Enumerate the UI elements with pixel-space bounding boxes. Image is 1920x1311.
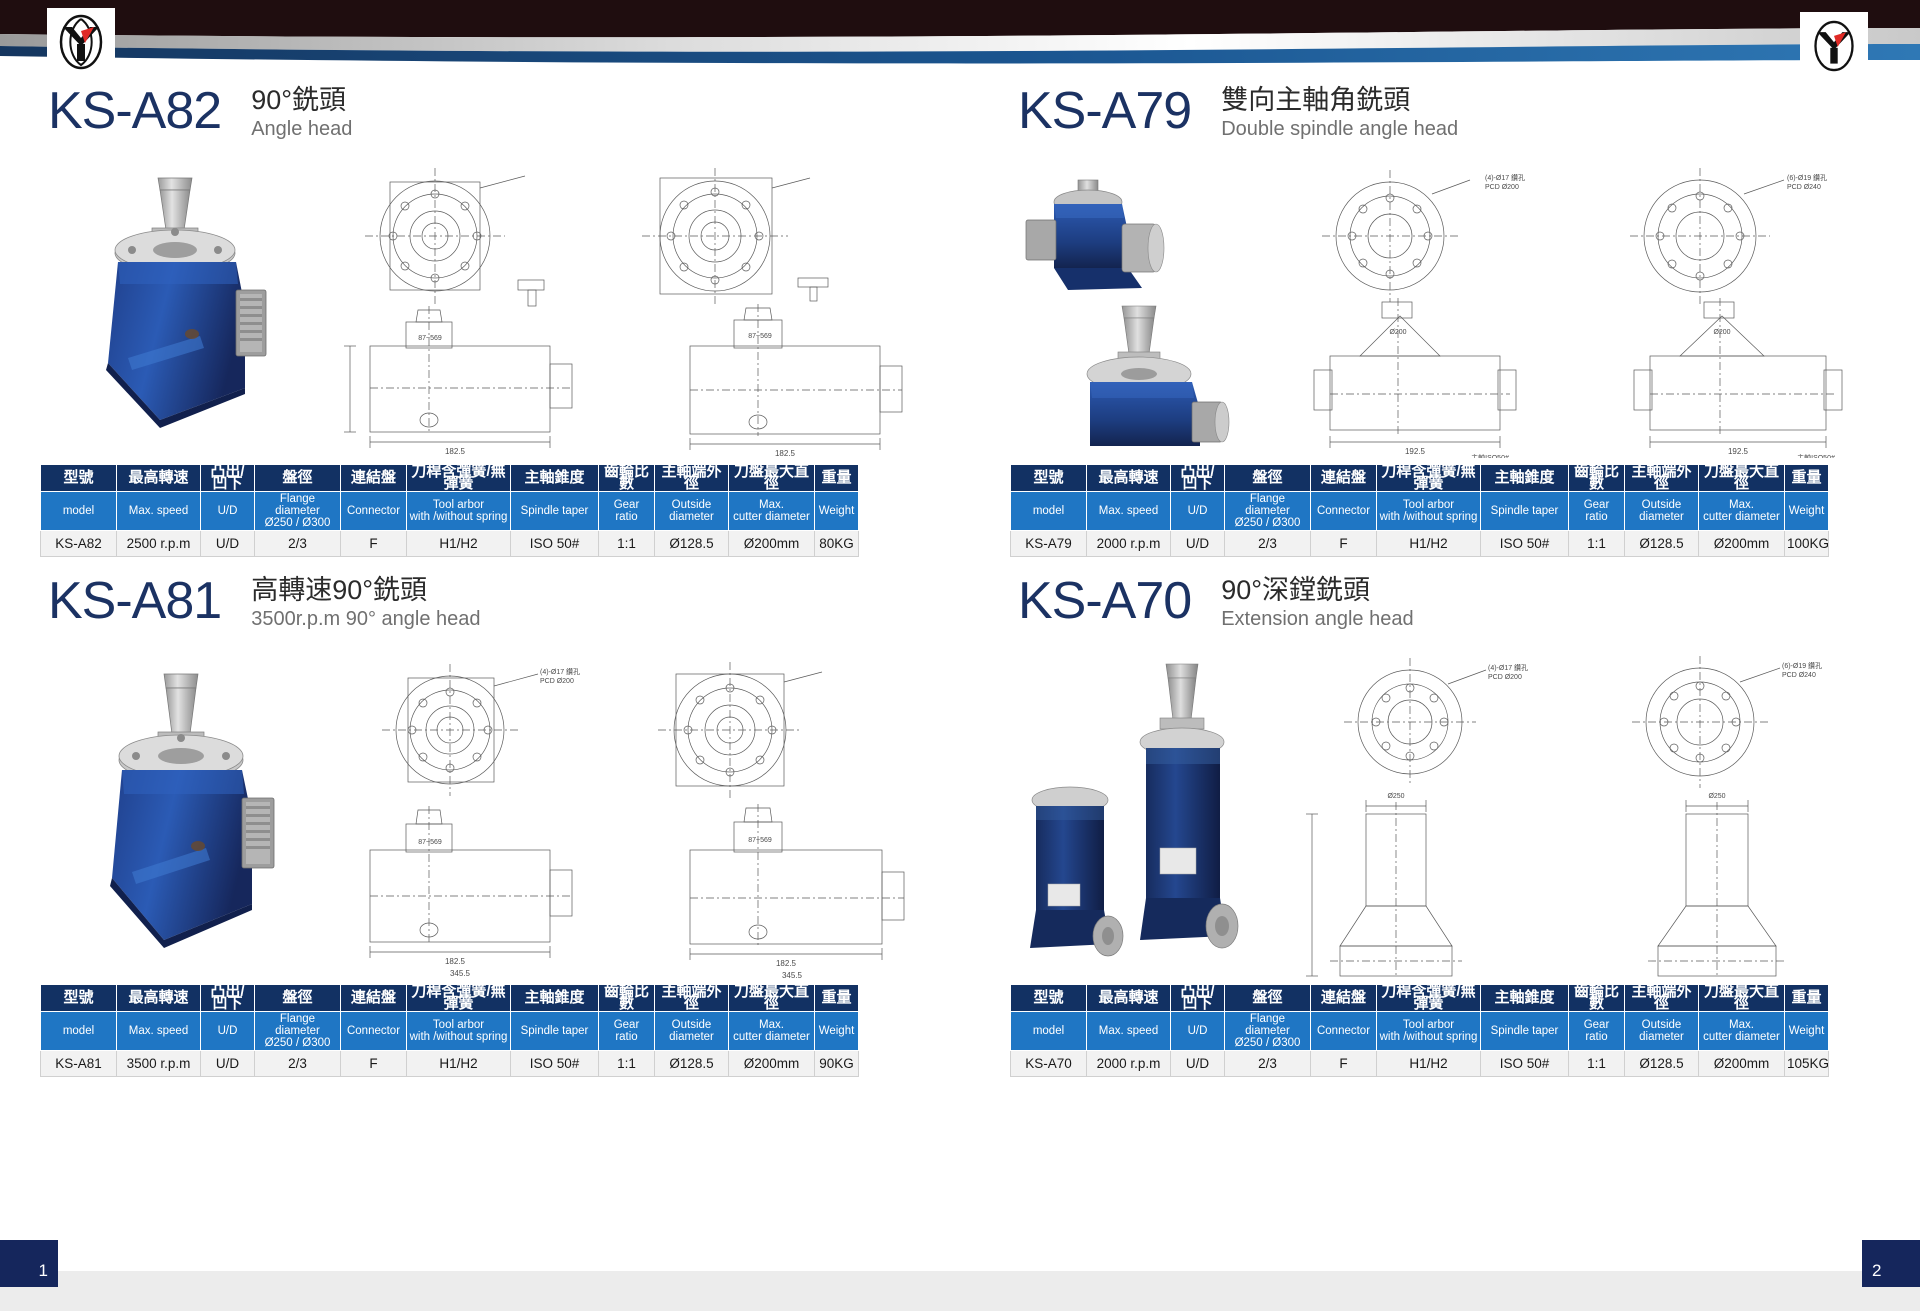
th-cn-flange: 盤徑 — [255, 465, 341, 492]
th-en-connector: Connector — [1311, 1012, 1377, 1051]
th-cn-flange: 盤徑 — [1225, 985, 1311, 1012]
cell-model: KS-A79 — [1011, 531, 1087, 557]
product-block-ks-a81: KS-A81 高轉速90°銑頭 3500r.p.m 90° angle head — [40, 572, 980, 1102]
th-en-outside: Outsidediameter — [1625, 492, 1699, 531]
svg-text:主軸ISO50#: 主軸ISO50# — [1471, 453, 1509, 458]
cell-arbor: H1/H2 — [1377, 531, 1481, 557]
cell-gear: 1:1 — [599, 1051, 655, 1077]
product-title-cn: 雙向主軸角銑頭 — [1221, 84, 1458, 116]
table-header-cn: 型號 最高轉速 凸出/凹下 盤徑 連結盤 刀桿含彈簧/無彈簧 主軸錐度 齒輪比數… — [1011, 465, 1829, 492]
th-en-model: model — [41, 1012, 117, 1051]
th-en-connector: Connector — [1311, 492, 1377, 531]
cell-weight: 80KG — [815, 531, 859, 557]
cell-model: KS-A82 — [41, 531, 117, 557]
svg-text:(6)-Ø19 鑽孔: (6)-Ø19 鑽孔 — [1782, 661, 1822, 670]
table-row: KS-A79 2000 r.p.m U/D 2/3 F H1/H2 ISO 50… — [1011, 531, 1829, 557]
cell-cutter: Ø200mm — [729, 1051, 815, 1077]
th-en-connector: Connector — [341, 492, 407, 531]
cell-connector: F — [1311, 531, 1377, 557]
cell-cutter: Ø200mm — [1699, 531, 1785, 557]
cell-speed: 2000 r.p.m — [1087, 531, 1171, 557]
product-title-row: KS-A82 90°銑頭 Angle head — [40, 82, 980, 154]
th-en-weight: Weight — [1785, 492, 1829, 531]
cell-arbor: H1/H2 — [407, 1051, 511, 1077]
table-header-cn: 型號 最高轉速 凸出/凹下 盤徑 連結盤 刀桿含彈簧/無彈簧 主軸錐度 齒輪比數… — [1011, 985, 1829, 1012]
svg-text:87~569: 87~569 — [748, 837, 772, 844]
th-en-outside: Outsidediameter — [1625, 1012, 1699, 1051]
table-header-cn: 型號 最高轉速 凸出/凹下 盤徑 連結盤 刀桿含彈簧/無彈簧 主軸錐度 齒輪比數… — [41, 985, 859, 1012]
svg-text:(4)-Ø17 鑽孔: (4)-Ø17 鑽孔 — [1485, 173, 1525, 182]
svg-text:PCD Ø200: PCD Ø200 — [540, 678, 574, 685]
product-title-cn: 90°深鏜銑頭 — [1221, 574, 1413, 606]
th-cn-speed: 最高轉速 — [1087, 465, 1171, 492]
cell-arbor: H1/H2 — [1377, 1051, 1481, 1077]
svg-text:PCD Ø200: PCD Ø200 — [1488, 674, 1522, 681]
cell-flange: 2/3 — [1225, 1051, 1311, 1077]
th-en-arbor: Tool arborwith /without spring — [1377, 492, 1481, 531]
cell-cutter: Ø200mm — [729, 531, 815, 557]
cell-speed: 2000 r.p.m — [1087, 1051, 1171, 1077]
th-en-gear: Gearratio — [1569, 492, 1625, 531]
th-en-flange: Flange diameterØ250 / Ø300 — [1225, 492, 1311, 531]
th-en-model: model — [1011, 1012, 1087, 1051]
th-en-ud: U/D — [201, 492, 255, 531]
header-banner — [0, 0, 1920, 82]
catalog-page: KS-A82 90°銑頭 Angle head — [0, 82, 1920, 1240]
cell-taper: ISO 50# — [511, 1051, 599, 1077]
product-title-cn: 90°銑頭 — [251, 84, 352, 116]
th-cn-arbor: 刀桿含彈簧/無彈簧 — [1377, 465, 1481, 492]
th-en-speed: Max. speed — [1087, 1012, 1171, 1051]
th-cn-gear: 齒輪比數 — [599, 465, 655, 492]
product-photo — [40, 158, 290, 458]
th-cn-gear: 齒輪比數 — [1569, 985, 1625, 1012]
th-cn-cutter: 刀盤最大直徑 — [1699, 985, 1785, 1012]
cell-taper: ISO 50# — [1481, 1051, 1569, 1077]
product-model-name: KS-A79 — [1018, 82, 1191, 140]
svg-text:87~569: 87~569 — [418, 839, 442, 846]
svg-text:PCD Ø240: PCD Ø240 — [1782, 672, 1816, 679]
th-cn-weight: 重量 — [815, 985, 859, 1012]
product-media: 182.5 87~569 182.5 87~569 — [40, 158, 980, 458]
product-media: (4)-Ø17 鑽孔 PCD Ø200 — [40, 648, 980, 978]
th-en-speed: Max. speed — [117, 492, 201, 531]
product-title-row: KS-A79 雙向主軸角銑頭 Double spindle angle head — [1010, 82, 1890, 154]
th-en-outside: Outsidediameter — [655, 1012, 729, 1051]
th-cn-ud: 凸出/凹下 — [1171, 465, 1225, 492]
th-cn-connector: 連結盤 — [1311, 985, 1377, 1012]
product-photo — [40, 648, 290, 978]
th-cn-model: 型號 — [1011, 985, 1087, 1012]
svg-text:182.5: 182.5 — [776, 959, 797, 968]
cell-weight: 100KG — [1785, 531, 1829, 557]
th-en-taper: Spindle taper — [1481, 1012, 1569, 1051]
svg-text:(6)-Ø19 鑽孔: (6)-Ø19 鑽孔 — [1787, 173, 1827, 182]
th-en-outside: Outsidediameter — [655, 492, 729, 531]
cell-cutter: Ø200mm — [1699, 1051, 1785, 1077]
th-en-ud: U/D — [201, 1012, 255, 1051]
cell-ud: U/D — [1171, 1051, 1225, 1077]
th-en-ud: U/D — [1171, 492, 1225, 531]
table-header-en: model Max. speed U/D Flange diameterØ250… — [1011, 1012, 1829, 1051]
th-cn-weight: 重量 — [1785, 465, 1829, 492]
th-en-flange: Flange diameterØ250 / Ø300 — [1225, 1012, 1311, 1051]
svg-text:主軸ISO50#: 主軸ISO50# — [1797, 453, 1835, 458]
table-header-en: model Max. speed U/D Flange diameterØ250… — [41, 492, 859, 531]
th-cn-outside: 主軸端外徑 — [1625, 465, 1699, 492]
cell-speed: 2500 r.p.m — [117, 531, 201, 557]
th-cn-speed: 最高轉速 — [117, 465, 201, 492]
th-cn-cutter: 刀盤最大直徑 — [729, 465, 815, 492]
th-en-gear: Gearratio — [599, 492, 655, 531]
cell-ud: U/D — [201, 531, 255, 557]
product-model-name: KS-A82 — [48, 82, 221, 140]
cell-gear: 1:1 — [1569, 531, 1625, 557]
technical-drawings: (4)-Ø17 鑽孔 PCD Ø200 — [290, 648, 980, 978]
th-cn-flange: 盤徑 — [255, 985, 341, 1012]
page-number-right: 2 — [1862, 1240, 1920, 1287]
th-en-arbor: Tool arborwith /without spring — [1377, 1012, 1481, 1051]
th-cn-gear: 齒輪比數 — [1569, 465, 1625, 492]
th-en-arbor: Tool arborwith /without spring — [407, 492, 511, 531]
product-block-ks-a82: KS-A82 90°銑頭 Angle head — [40, 82, 980, 572]
cell-taper: ISO 50# — [511, 531, 599, 557]
svg-text:Ø250: Ø250 — [1708, 793, 1725, 800]
th-en-taper: Spindle taper — [511, 1012, 599, 1051]
page-footer: 1 2 — [0, 1240, 1920, 1311]
page-number-left: 1 — [0, 1240, 58, 1287]
cell-flange: 2/3 — [255, 531, 341, 557]
th-en-arbor: Tool arborwith /without spring — [407, 1012, 511, 1051]
svg-text:Ø200: Ø200 — [1713, 329, 1730, 336]
th-en-cutter: Max.cutter diameter — [729, 492, 815, 531]
product-photo — [1010, 648, 1260, 978]
table-row: KS-A81 3500 r.p.m U/D 2/3 F H1/H2 ISO 50… — [41, 1051, 859, 1077]
th-cn-taper: 主軸錐度 — [1481, 985, 1569, 1012]
company-logo-icon — [54, 13, 108, 71]
svg-text:345.5: 345.5 — [782, 971, 803, 978]
th-cn-speed: 最高轉速 — [117, 985, 201, 1012]
cell-gear: 1:1 — [1569, 1051, 1625, 1077]
technical-drawings: (4)-Ø17 鑽孔 PCD Ø200 (6)-Ø19 鑽孔 PCD Ø240 — [1260, 158, 1890, 458]
th-cn-connector: 連結盤 — [341, 985, 407, 1012]
th-en-cutter: Max.cutter diameter — [1699, 492, 1785, 531]
cell-ud: U/D — [201, 1051, 255, 1077]
cell-model: KS-A81 — [41, 1051, 117, 1077]
svg-text:87~569: 87~569 — [748, 333, 772, 340]
th-cn-ud: 凸出/凹下 — [201, 985, 255, 1012]
product-title-en: 3500r.p.m 90° angle head — [251, 606, 480, 632]
th-cn-ud: 凸出/凹下 — [201, 465, 255, 492]
cell-taper: ISO 50# — [1481, 531, 1569, 557]
spec-table-ks-a79: 型號 最高轉速 凸出/凹下 盤徑 連結盤 刀桿含彈簧/無彈簧 主軸錐度 齒輪比數… — [1010, 464, 1829, 557]
th-cn-weight: 重量 — [1785, 985, 1829, 1012]
th-cn-flange: 盤徑 — [1225, 465, 1311, 492]
cell-speed: 3500 r.p.m — [117, 1051, 201, 1077]
th-en-model: model — [1011, 492, 1087, 531]
product-media: (4)-Ø17 鑽孔 PCD Ø200 (6)-Ø19 鑽孔 PCD Ø240 — [1010, 648, 1890, 978]
cell-gear: 1:1 — [599, 531, 655, 557]
product-model-name: KS-A70 — [1018, 572, 1191, 630]
table-row: KS-A70 2000 r.p.m U/D 2/3 F H1/H2 ISO 50… — [1011, 1051, 1829, 1077]
product-photo — [1010, 158, 1260, 458]
product-block-ks-a79: KS-A79 雙向主軸角銑頭 Double spindle angle head — [1010, 82, 1890, 572]
product-title-row: KS-A81 高轉速90°銑頭 3500r.p.m 90° angle head — [40, 572, 980, 644]
cell-weight: 105KG — [1785, 1051, 1829, 1077]
product-block-ks-a70: KS-A70 90°深鏜銑頭 Extension angle head — [1010, 572, 1890, 1102]
th-cn-arbor: 刀桿含彈簧/無彈簧 — [407, 985, 511, 1012]
spec-table-ks-a70: 型號 最高轉速 凸出/凹下 盤徑 連結盤 刀桿含彈簧/無彈簧 主軸錐度 齒輪比數… — [1010, 984, 1829, 1077]
cell-ud: U/D — [1171, 531, 1225, 557]
th-cn-taper: 主軸錐度 — [511, 985, 599, 1012]
table-header-en: model Max. speed U/D Flange diameterØ250… — [41, 1012, 859, 1051]
product-title-cn: 高轉速90°銑頭 — [251, 574, 480, 606]
table-row: KS-A82 2500 r.p.m U/D 2/3 F H1/H2 ISO 50… — [41, 531, 859, 557]
cell-connector: F — [1311, 1051, 1377, 1077]
th-cn-connector: 連結盤 — [341, 465, 407, 492]
th-en-flange: Flange diameterØ250 / Ø300 — [255, 492, 341, 531]
svg-text:87~569: 87~569 — [418, 335, 442, 342]
cell-connector: F — [341, 1051, 407, 1077]
product-title-en: Extension angle head — [1221, 606, 1413, 632]
svg-text:192.5: 192.5 — [1405, 447, 1426, 456]
table-header-cn: 型號 最高轉速 凸出/凹下 盤徑 連結盤 刀桿含彈簧/無彈簧 主軸錐度 齒輪比數… — [41, 465, 859, 492]
cell-outside: Ø128.5 — [655, 1051, 729, 1077]
svg-text:Ø250: Ø250 — [1387, 793, 1404, 800]
th-en-weight: Weight — [815, 492, 859, 531]
cell-outside: Ø128.5 — [1625, 1051, 1699, 1077]
th-cn-outside: 主軸端外徑 — [655, 465, 729, 492]
th-en-weight: Weight — [1785, 1012, 1829, 1051]
svg-text:PCD Ø200: PCD Ø200 — [1485, 184, 1519, 191]
th-cn-outside: 主軸端外徑 — [655, 985, 729, 1012]
th-en-cutter: Max.cutter diameter — [729, 1012, 815, 1051]
th-cn-model: 型號 — [1011, 465, 1087, 492]
th-cn-model: 型號 — [41, 985, 117, 1012]
svg-text:182.5: 182.5 — [445, 957, 466, 966]
company-logo-icon — [1809, 19, 1859, 73]
product-title-en: Double spindle angle head — [1221, 116, 1458, 142]
th-cn-cutter: 刀盤最大直徑 — [1699, 465, 1785, 492]
th-en-taper: Spindle taper — [1481, 492, 1569, 531]
th-en-cutter: Max.cutter diameter — [1699, 1012, 1785, 1051]
th-en-gear: Gearratio — [1569, 1012, 1625, 1051]
th-en-weight: Weight — [815, 1012, 859, 1051]
product-title-en: Angle head — [251, 116, 352, 142]
th-cn-cutter: 刀盤最大直徑 — [729, 985, 815, 1012]
th-en-connector: Connector — [341, 1012, 407, 1051]
th-cn-weight: 重量 — [815, 465, 859, 492]
th-en-model: model — [41, 492, 117, 531]
cell-flange: 2/3 — [1225, 531, 1311, 557]
spec-table-ks-a81: 型號 最高轉速 凸出/凹下 盤徑 連結盤 刀桿含彈簧/無彈簧 主軸錐度 齒輪比數… — [40, 984, 859, 1077]
svg-text:(4)-Ø17 鑽孔: (4)-Ø17 鑽孔 — [540, 667, 580, 676]
th-cn-ud: 凸出/凹下 — [1171, 985, 1225, 1012]
th-cn-taper: 主軸錐度 — [1481, 465, 1569, 492]
cell-model: KS-A70 — [1011, 1051, 1087, 1077]
company-logo-right — [1800, 12, 1868, 80]
svg-text:182.5: 182.5 — [775, 449, 796, 458]
svg-text:192.5: 192.5 — [1728, 447, 1749, 456]
th-cn-arbor: 刀桿含彈簧/無彈簧 — [1377, 985, 1481, 1012]
svg-text:(4)-Ø17 鑽孔: (4)-Ø17 鑽孔 — [1488, 663, 1528, 672]
cell-outside: Ø128.5 — [655, 531, 729, 557]
th-en-gear: Gearratio — [599, 1012, 655, 1051]
company-logo-left — [47, 8, 115, 76]
th-en-ud: U/D — [1171, 1012, 1225, 1051]
th-cn-taper: 主軸錐度 — [511, 465, 599, 492]
cell-weight: 90KG — [815, 1051, 859, 1077]
cell-flange: 2/3 — [255, 1051, 341, 1077]
th-cn-speed: 最高轉速 — [1087, 985, 1171, 1012]
cell-outside: Ø128.5 — [1625, 531, 1699, 557]
technical-drawings: (4)-Ø17 鑽孔 PCD Ø200 (6)-Ø19 鑽孔 PCD Ø240 — [1260, 648, 1890, 978]
th-cn-gear: 齒輪比數 — [599, 985, 655, 1012]
table-header-en: model Max. speed U/D Flange diameterØ250… — [1011, 492, 1829, 531]
svg-text:PCD Ø240: PCD Ø240 — [1787, 184, 1821, 191]
th-en-speed: Max. speed — [1087, 492, 1171, 531]
technical-drawings: 182.5 87~569 182.5 87~569 — [290, 158, 980, 458]
cell-arbor: H1/H2 — [407, 531, 511, 557]
svg-text:182.5: 182.5 — [445, 447, 466, 456]
th-cn-outside: 主軸端外徑 — [1625, 985, 1699, 1012]
th-cn-model: 型號 — [41, 465, 117, 492]
th-en-speed: Max. speed — [117, 1012, 201, 1051]
svg-text:Ø200: Ø200 — [1389, 329, 1406, 336]
product-model-name: KS-A81 — [48, 572, 221, 630]
product-title-row: KS-A70 90°深鏜銑頭 Extension angle head — [1010, 572, 1890, 644]
svg-text:345.5: 345.5 — [450, 969, 471, 978]
product-media: (4)-Ø17 鑽孔 PCD Ø200 (6)-Ø19 鑽孔 PCD Ø240 — [1010, 158, 1890, 458]
th-cn-arbor: 刀桿含彈簧/無彈簧 — [407, 465, 511, 492]
footer-bar — [0, 1271, 1920, 1311]
th-en-flange: Flange diameterØ250 / Ø300 — [255, 1012, 341, 1051]
spec-table-ks-a82: 型號 最高轉速 凸出/凹下 盤徑 連結盤 刀桿含彈簧/無彈簧 主軸錐度 齒輪比數… — [40, 464, 859, 557]
cell-connector: F — [341, 531, 407, 557]
th-cn-connector: 連結盤 — [1311, 465, 1377, 492]
th-en-taper: Spindle taper — [511, 492, 599, 531]
